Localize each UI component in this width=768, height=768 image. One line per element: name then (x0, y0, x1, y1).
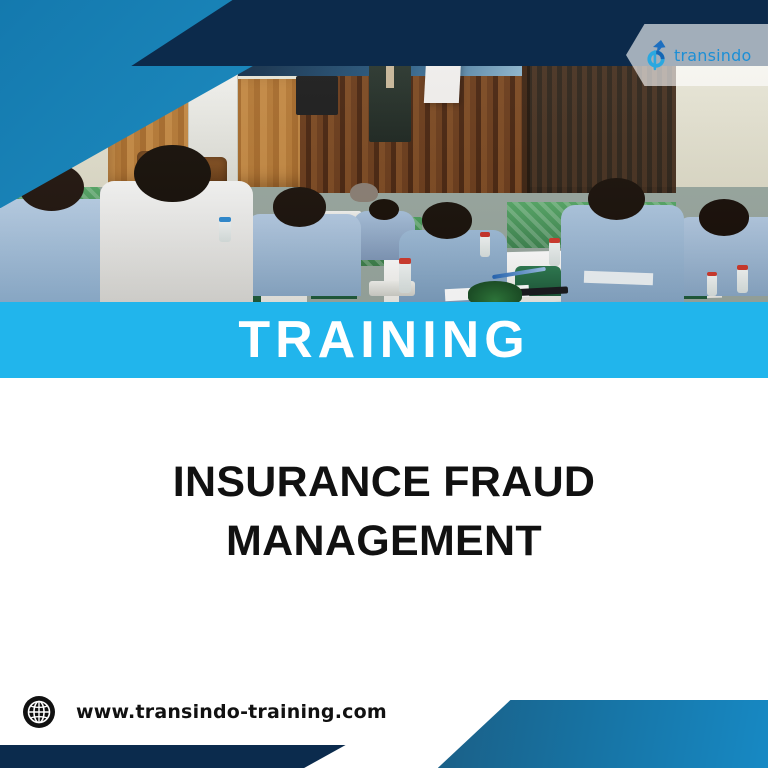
bottle-cap (707, 272, 717, 277)
attendee-head (422, 202, 472, 238)
course-title-line-2: MANAGEMENT (226, 512, 542, 571)
papers (583, 271, 652, 285)
attendee-body (246, 214, 361, 296)
transindo-swoosh-icon (644, 38, 670, 72)
training-banner: TRAINING (0, 302, 768, 378)
attendee-head-table-head (350, 183, 378, 203)
training-poster: TER A ue For Bus ns (0, 0, 768, 768)
water-bottle (480, 236, 490, 257)
globe-icon (22, 695, 56, 729)
training-banner-label: TRAINING (238, 314, 529, 366)
bottle-cap (399, 258, 411, 264)
attendee-head (273, 187, 327, 226)
water-bottle (549, 242, 560, 266)
brand-logo-plate: transindo (626, 24, 768, 86)
attendee-head (134, 145, 211, 202)
bottle-cap (480, 232, 490, 237)
footer-blue-shape (438, 700, 768, 768)
water-bottle (399, 263, 411, 293)
attendee-head (699, 199, 749, 235)
water-bottle (737, 269, 748, 293)
bottle-cap (737, 265, 748, 270)
website-row[interactable]: www.transindo-training.com (22, 695, 387, 729)
footer-navy-bar (0, 745, 346, 768)
hero-photo: TER A ue For Bus ns (0, 0, 768, 302)
course-title-block: INSURANCE FRAUD MANAGEMENT (0, 378, 768, 680)
bottle-cap (549, 238, 560, 243)
water-bottle (219, 220, 231, 241)
attendee-body (0, 199, 115, 302)
potted-plant (468, 281, 522, 302)
website-url-text[interactable]: www.transindo-training.com (76, 701, 387, 723)
footer: www.transindo-training.com (0, 680, 768, 768)
brand-logo-wordmark: transindo (674, 46, 751, 65)
water-bottle (707, 275, 717, 296)
attendee-body (561, 205, 684, 302)
speaker-box (296, 76, 338, 115)
course-title-line-1: INSURANCE FRAUD (173, 453, 596, 512)
bottle-cap (219, 217, 231, 222)
